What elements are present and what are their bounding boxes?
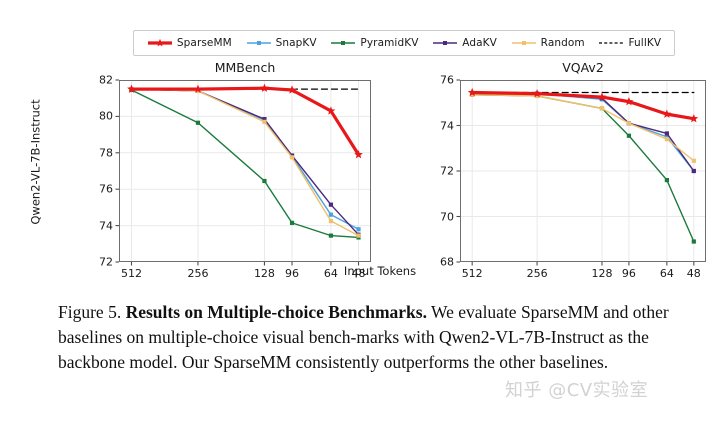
figure-caption: Figure 5. Results on Multiple-choice Ben… <box>58 300 670 375</box>
chart-panel-mmbench: MMBench727476788082512256128966448 <box>47 0 383 230</box>
caption-prefix: Figure 5. <box>58 302 126 322</box>
chart-panel-vqav2: VQAv26870727476512256128966448 <box>398 0 718 230</box>
watermark: 知乎 @CV实验室 <box>505 376 648 402</box>
x-axis-label: Input Tokens <box>300 264 460 278</box>
y-tick-label: 76 <box>83 183 113 196</box>
y-tick-label: 74 <box>83 219 113 232</box>
y-tick-label: 74 <box>424 119 454 132</box>
x-tick-label: 512 <box>114 267 148 280</box>
x-tick-label: 48 <box>677 267 711 280</box>
y-tick-label: 72 <box>83 256 113 269</box>
x-tick-label: 256 <box>520 267 554 280</box>
x-tick-label: 512 <box>455 267 489 280</box>
caption-bold-title: Results on Multiple-choice Benchmarks. <box>126 302 427 322</box>
x-tick-label: 96 <box>612 267 646 280</box>
x-tick-label: 256 <box>181 267 215 280</box>
y-tick-label: 82 <box>83 74 113 87</box>
y-axis-label: Qwen2-VL-7B-Instruct <box>26 62 46 262</box>
plot-area <box>119 80 371 262</box>
figure-container: SparseMMSnapKVPyramidKVAdaKVRandomFullKV… <box>0 0 726 430</box>
chart-title: MMBench <box>119 60 371 75</box>
y-tick-label: 70 <box>424 210 454 223</box>
y-tick-label: 76 <box>424 74 454 87</box>
y-tick-label: 78 <box>83 146 113 159</box>
y-tick-label: 72 <box>424 165 454 178</box>
plot-area <box>460 80 706 262</box>
y-tick-label: 80 <box>83 110 113 123</box>
chart-title: VQAv2 <box>460 60 706 75</box>
